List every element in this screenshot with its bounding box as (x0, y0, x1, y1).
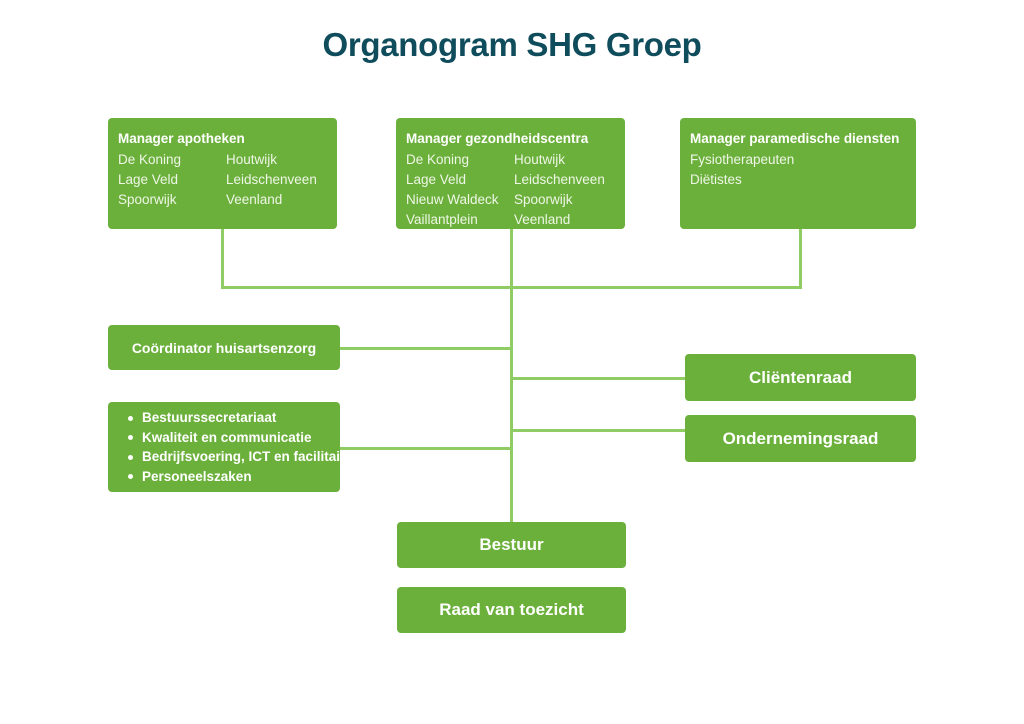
node-manager-gezondheidscentra[interactable]: Manager gezondheidscentra De Koning Hout… (396, 118, 625, 229)
node-staff-functions[interactable]: Bestuurssecretariaat Kwaliteit en commun… (108, 402, 340, 492)
staff-function-item: Bedrijfsvoering, ICT en facilitair (142, 447, 345, 467)
node-label: Bestuur (479, 535, 543, 555)
location-left: De Koning (118, 150, 226, 170)
node-label: Cliëntenraad (749, 368, 852, 388)
node-manager-paramedische-diensten[interactable]: Manager paramedische diensten Fysiothera… (680, 118, 916, 229)
location-right: Houtwijk (226, 150, 277, 170)
node-label: Ondernemingsraad (723, 429, 879, 449)
node-manager-apotheken[interactable]: Manager apotheken De Koning Houtwijk Lag… (108, 118, 337, 229)
location-row: Lage Veld Leidschenveen (406, 170, 615, 190)
node-discipline-list: Fysiotherapeuten Diëtistes (690, 150, 906, 190)
location-left: De Koning (406, 150, 514, 170)
connector-main-spine (510, 286, 513, 526)
staff-function-item: Kwaliteit en communicatie (142, 428, 345, 448)
node-ondernemingsraad[interactable]: Ondernemingsraad (685, 415, 916, 462)
staff-function-item: Bestuurssecretariaat (142, 408, 345, 428)
connector-staff-branch (339, 447, 512, 450)
organogram-canvas: Organogram SHG Groep Manager apotheken D… (0, 0, 1024, 724)
location-left: Lage Veld (118, 170, 226, 190)
connector-gezondheidscentra-drop (510, 229, 513, 289)
node-bestuur[interactable]: Bestuur (397, 522, 626, 568)
node-coordinator-huisartsenzorg[interactable]: Coördinator huisartsenzorg (108, 325, 340, 370)
location-row: Nieuw Waldeck Spoorwijk (406, 190, 615, 210)
location-row: De Koning Houtwijk (118, 150, 327, 170)
connector-paramedische-drop (799, 229, 802, 289)
staff-function-item: Personeelszaken (142, 467, 345, 487)
location-row: Vaillantplein Veenland (406, 210, 615, 230)
location-left: Vaillantplein (406, 210, 514, 230)
location-right: Spoorwijk (514, 190, 573, 210)
location-right: Veenland (514, 210, 570, 230)
connector-clientenraad-branch (510, 377, 686, 380)
node-title: Manager apotheken (118, 129, 327, 149)
location-right: Leidschenveen (514, 170, 605, 190)
node-location-list: De Koning Houtwijk Lage Veld Leidschenve… (406, 150, 615, 230)
location-row: Lage Veld Leidschenveen (118, 170, 327, 190)
location-left: Spoorwijk (118, 190, 226, 210)
connector-ondernemingsraad-branch (510, 429, 686, 432)
location-left: Lage Veld (406, 170, 514, 190)
node-clientenraad[interactable]: Cliëntenraad (685, 354, 916, 401)
connector-apotheken-drop (221, 229, 224, 289)
node-title: Manager paramedische diensten (690, 129, 906, 149)
staff-function-list: Bestuurssecretariaat Kwaliteit en commun… (108, 408, 357, 486)
connector-coordinator-branch (339, 347, 512, 350)
node-location-list: De Koning Houtwijk Lage Veld Leidschenve… (118, 150, 327, 210)
node-raad-van-toezicht[interactable]: Raad van toezicht (397, 587, 626, 633)
discipline-item: Fysiotherapeuten (690, 150, 906, 170)
location-right: Leidschenveen (226, 170, 317, 190)
node-title: Manager gezondheidscentra (406, 129, 615, 149)
node-label: Coördinator huisartsenzorg (132, 340, 316, 356)
location-right: Veenland (226, 190, 282, 210)
discipline-item: Diëtistes (690, 170, 906, 190)
node-label: Raad van toezicht (439, 600, 584, 620)
location-row: De Koning Houtwijk (406, 150, 615, 170)
page-title: Organogram SHG Groep (0, 26, 1024, 64)
location-left: Nieuw Waldeck (406, 190, 514, 210)
location-row: Spoorwijk Veenland (118, 190, 327, 210)
location-right: Houtwijk (514, 150, 565, 170)
